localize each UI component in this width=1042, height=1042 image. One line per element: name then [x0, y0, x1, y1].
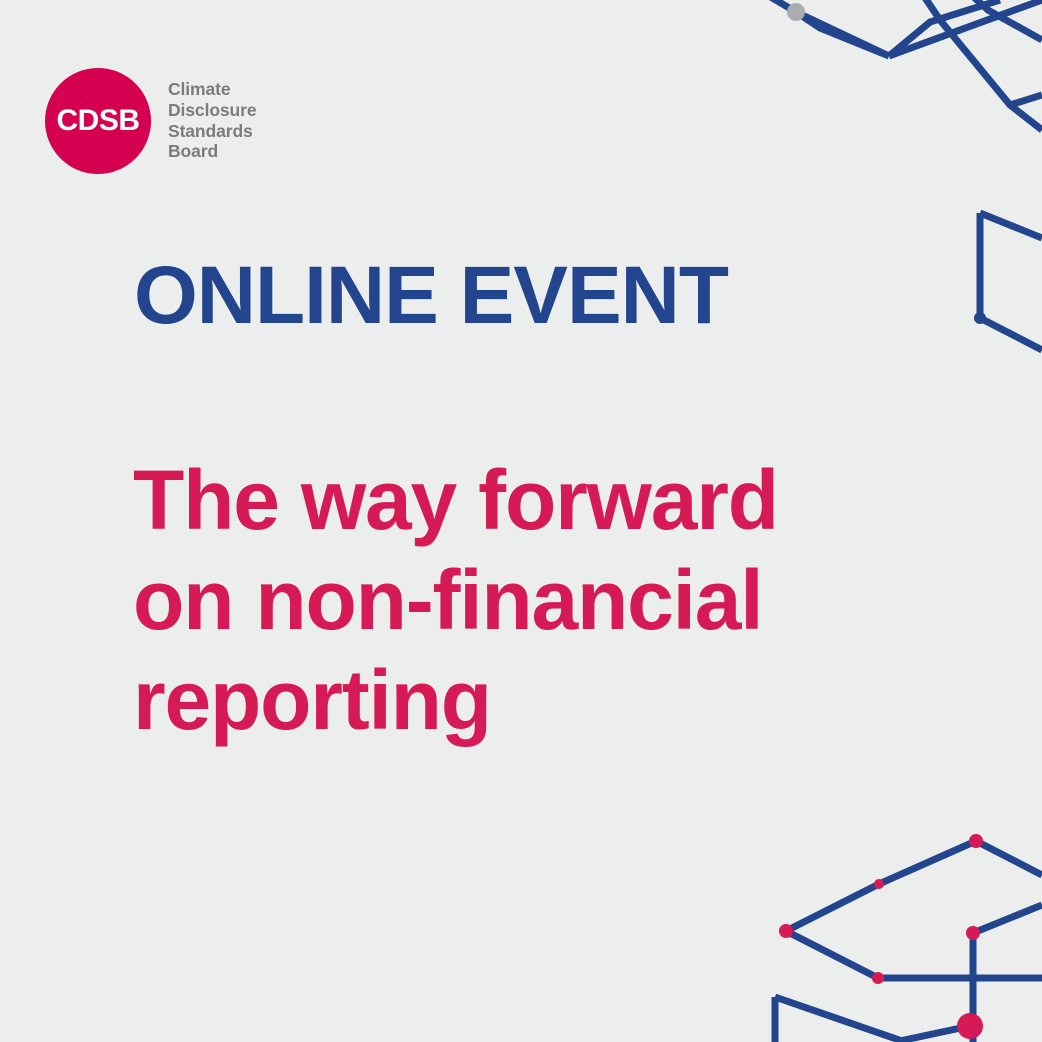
- event-title-line-1: The way forward: [133, 450, 778, 550]
- event-type-kicker: ONLINE EVENT: [134, 255, 728, 337]
- network-node-pink: [779, 924, 793, 938]
- cdsb-logo[interactable]: CDSB Climate Disclosure Standards Board: [45, 68, 256, 174]
- wordmark-line-2: Disclosure: [168, 100, 256, 121]
- wordmark-line-1: Climate: [168, 79, 256, 100]
- cdsb-wordmark: Climate Disclosure Standards Board: [168, 79, 256, 162]
- network-node-blue: [974, 312, 986, 324]
- cdsb-logo-mark-text: CDSB: [56, 106, 139, 136]
- network-node-pink-large: [957, 1013, 983, 1039]
- cdsb-logo-mark: CDSB: [45, 68, 151, 174]
- network-node-pink: [969, 834, 983, 848]
- event-title-line-2: on non-financial: [133, 550, 778, 650]
- network-node-pink: [872, 972, 884, 984]
- network-node-gray: [787, 3, 805, 21]
- network-node-pink: [966, 926, 980, 940]
- event-title-line-3: reporting: [133, 650, 778, 750]
- wordmark-line-4: Board: [168, 141, 256, 162]
- wordmark-line-3: Standards: [168, 121, 256, 142]
- network-node-pink: [874, 879, 884, 889]
- poster-canvas: CDSB Climate Disclosure Standards Board …: [0, 0, 1042, 1042]
- event-title: The way forward on non-financial reporti…: [133, 450, 778, 750]
